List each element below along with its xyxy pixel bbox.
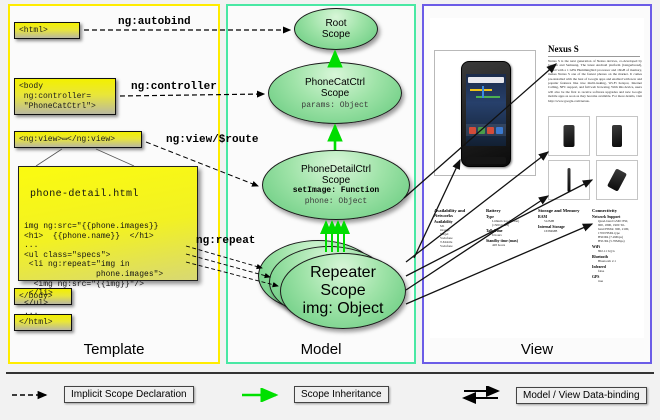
phone-app-icon-2 <box>478 127 485 134</box>
spec-column-storage: Storage and Memory RAM 512MB Internal St… <box>538 208 590 233</box>
arrow-label-controller: ng:controller <box>131 81 217 93</box>
scope-title-line1: PhoneCatCtrl <box>305 77 365 88</box>
legend-double-arrow-icon <box>462 386 508 404</box>
view-heading: Nexus S <box>548 44 579 54</box>
spec-value: (1500 mAH) <box>492 223 534 227</box>
scope-title-line1: Repeater <box>310 264 376 282</box>
view-thumbnail-1[interactable] <box>548 116 590 156</box>
legend-label: Scope Inheritance <box>294 386 389 403</box>
spec-header: Storage and Memory <box>538 208 590 213</box>
legend-green-arrow-icon <box>240 388 286 402</box>
thumbnail-phone-front <box>564 125 575 147</box>
scope-ellipse-phonecatctrl: PhoneCatCtrl Scope params: Object <box>268 62 402 124</box>
thumbnail-phone-angled <box>607 168 627 191</box>
view-thumbnail-4[interactable] <box>596 160 638 200</box>
spec-header: Battery <box>486 208 534 213</box>
callout-code: img ng:src="{{phone.images}} <h1> {{phon… <box>24 222 192 318</box>
spec-column-availability: Availability and Networks Availability M… <box>434 208 480 248</box>
phone-app-icon-1 <box>469 127 476 134</box>
scope-ellipse-root: Root Scope <box>294 8 378 50</box>
spec-header: Connectivity <box>592 208 640 213</box>
scope-ellipse-repeater-stack: Repeater Scope img: Object <box>258 240 410 332</box>
view-spec-table: Availability and Networks Availability M… <box>434 208 640 308</box>
legend-item-implicit-scope: Implicit Scope Declaration <box>10 386 194 403</box>
scope-property-params: params: Object <box>301 101 368 110</box>
scope-property-img: img: Object <box>303 300 384 318</box>
spec-value: 512MB <box>544 219 590 223</box>
phone-device-illustration <box>461 61 511 167</box>
repeater-ellipse-front: Repeater Scope img: Object <box>280 253 406 329</box>
scope-title-line2: Scope <box>322 29 350 40</box>
legend-label: Implicit Scope Declaration <box>64 386 194 403</box>
scope-title-line2: Scope <box>322 175 350 186</box>
spec-value: true <box>598 279 640 283</box>
scope-title-line2: Scope <box>320 282 365 300</box>
phone-search-bar <box>468 77 504 83</box>
thumbnail-phone-edge <box>568 168 571 192</box>
spec-value: false <box>598 269 640 273</box>
legend-item-data-binding: Model / View Data-binding <box>462 386 647 404</box>
arrow-label-repeat: ng:repeat <box>196 235 255 247</box>
spec-column-battery: Battery Type Lithium Ion (Li-Ion) (1500 … <box>486 208 534 247</box>
column-model-label: Model <box>228 341 414 358</box>
spec-value: Bluetooth 2.1 <box>598 259 640 263</box>
phone-decor-line-1 <box>470 89 492 91</box>
phone-screen <box>466 74 506 146</box>
scope-ellipse-phonedetailctrl: PhoneDetailCtrl Scope setImage: Function… <box>262 150 410 220</box>
view-description: Nexus S is the next generation of Nexus … <box>548 59 642 103</box>
code-box-body-open: <body ng:controller= "PhoneCatCtrl"> <box>14 78 116 115</box>
callout-phone-detail-html: phone-detail.html img ng:src="{{phone.im… <box>18 166 198 281</box>
view-rendered-page: Nexus S Nexus S is the next generation o… <box>430 18 644 338</box>
callout-title: phone-detail.html <box>30 190 192 200</box>
spec-value: 428 hours <box>492 243 534 247</box>
phone-app-icon-4 <box>496 127 503 134</box>
spec-value: 6 hours <box>492 233 534 237</box>
scope-title-line1: Root <box>325 18 346 29</box>
code-box-html-open: <html> <box>14 22 80 39</box>
legend-label: Model / View Data-binding <box>516 387 647 404</box>
column-template-label: Template <box>10 341 218 358</box>
arrow-label-ngview-route: ng:view/$route <box>166 134 258 146</box>
column-view-label: View <box>424 341 650 358</box>
view-thumbnail-3[interactable] <box>548 160 590 200</box>
view-heading-rule <box>548 56 640 57</box>
legend-divider <box>6 372 654 374</box>
phone-hero-image-frame <box>434 50 536 176</box>
scope-property-phone: phone: Object <box>305 197 367 206</box>
spec-value: Vodafone <box>440 244 480 248</box>
thumbnail-phone-back <box>612 125 622 147</box>
arrow-label-autobind: ng:autobind <box>118 16 191 28</box>
phone-bottom-keys <box>466 157 506 164</box>
legend-dashed-arrow-icon <box>10 388 56 402</box>
diagram-canvas: Template <html> <body ng:controller= "Ph… <box>0 0 660 420</box>
code-box-ngview-tag: <ng:view>▭</ng:view> <box>14 131 142 148</box>
scope-title-line1: PhoneDetailCtrl <box>301 164 371 175</box>
legend: Implicit Scope Declaration Scope Inherit… <box>0 372 660 420</box>
phone-app-icon-3 <box>487 127 494 134</box>
phone-decor-line-2 <box>476 96 500 98</box>
phone-decor-line-3 <box>482 86 484 98</box>
legend-item-scope-inheritance: Scope Inheritance <box>240 386 389 403</box>
spec-value: HSUPA (5.76Mbps) <box>598 239 640 243</box>
scope-title-line2: Scope <box>321 88 349 99</box>
view-thumbnail-2[interactable] <box>596 116 638 156</box>
spec-value: 802.11 b/g/n <box>598 249 640 253</box>
spec-header: Availability and Networks <box>434 208 480 218</box>
spec-value: 16384MB <box>544 229 590 233</box>
spec-column-connectivity: Connectivity Network Support Quad-band G… <box>592 208 640 283</box>
scope-property-setimage: setImage: Function <box>293 186 379 195</box>
